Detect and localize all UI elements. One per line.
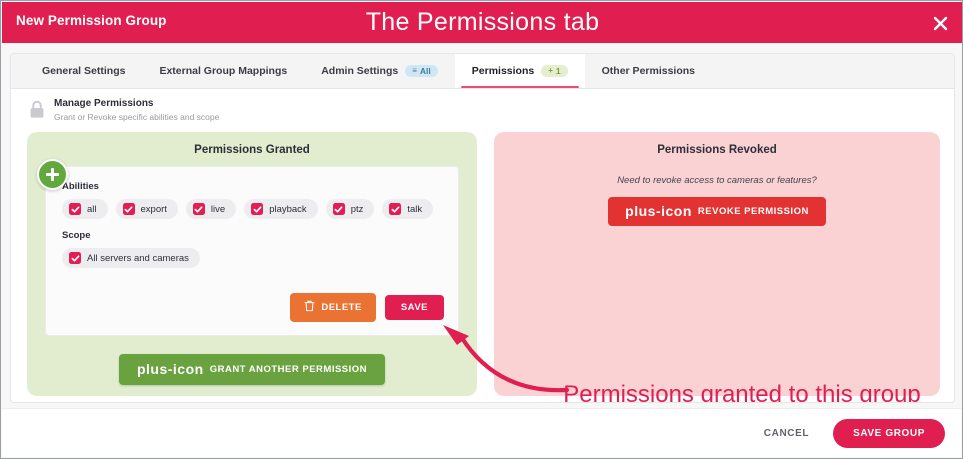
manage-subtitle: Grant or Revoke specific abilities and s… — [54, 111, 219, 123]
tab-bar: General Settings External Group Mappings… — [11, 54, 954, 89]
chip-label: talk — [407, 204, 422, 215]
revoke-button-wrap: plus-icon REVOKE PERMISSION — [494, 197, 940, 226]
trash-icon — [304, 300, 315, 315]
save-group-button[interactable]: SAVE GROUP — [833, 419, 945, 448]
button-label: REVOKE PERMISSION — [698, 206, 809, 217]
tab-label: Admin Settings — [321, 65, 398, 77]
tab-permissions[interactable]: Permissions + 1 — [455, 54, 585, 88]
permissions-granted-panel: Permissions Granted Abilities all export — [27, 132, 477, 396]
abilities-label: Abilities — [62, 181, 442, 192]
tab-other-permissions[interactable]: Other Permissions — [585, 54, 712, 88]
title-bar: New Permission Group The Permissions tab — [2, 2, 963, 43]
abilities-chip-list: all export live playback — [62, 199, 442, 219]
save-permission-button[interactable]: SAVE — [385, 295, 444, 320]
tab-label: Other Permissions — [602, 65, 695, 77]
lock-icon — [29, 100, 45, 119]
tab-general-settings[interactable]: General Settings — [25, 54, 142, 88]
ability-chip-playback[interactable]: playback — [244, 199, 318, 219]
button-label: DELETE — [321, 302, 361, 313]
checkbox-checked-icon[interactable] — [193, 203, 205, 215]
card-actions: DELETE SAVE — [290, 293, 444, 322]
scope-chip-list: All servers and cameras — [62, 248, 442, 268]
checkbox-checked-icon[interactable] — [333, 203, 345, 215]
tab-label: External Group Mappings — [159, 65, 287, 77]
delete-button[interactable]: DELETE — [290, 293, 375, 322]
button-label: GRANT ANOTHER PERMISSION — [210, 364, 367, 375]
plus-icon: + — [548, 67, 553, 75]
ability-chip-all[interactable]: all — [62, 199, 108, 219]
checkbox-checked-icon[interactable] — [69, 252, 81, 264]
ability-chip-ptz[interactable]: ptz — [326, 199, 375, 219]
revoke-question: Need to revoke access to cameras or feat… — [494, 175, 940, 186]
checkbox-checked-icon[interactable] — [69, 203, 81, 215]
tab-badge-count: + 1 — [541, 65, 567, 78]
cancel-button[interactable]: CANCEL — [758, 427, 815, 440]
grant-another-permission-button[interactable]: plus-icon GRANT ANOTHER PERMISSION — [119, 354, 385, 385]
plus-icon: plus-icon — [625, 204, 692, 218]
tab-label: Permissions — [472, 65, 534, 77]
app-window: New Permission Group The Permissions tab… — [0, 0, 963, 459]
checkbox-checked-icon[interactable] — [123, 203, 135, 215]
tab-external-group-mappings[interactable]: External Group Mappings — [142, 54, 304, 88]
chip-label: live — [211, 204, 225, 215]
tab-badge-all: ≡ All — [405, 65, 438, 78]
permission-entry-card: Abilities all export live — [45, 166, 459, 336]
chip-label: ptz — [351, 204, 364, 215]
manage-permissions-header: Manage Permissions Grant or Revoke speci… — [29, 98, 219, 123]
close-icon[interactable] — [927, 10, 953, 36]
ability-chip-live[interactable]: live — [186, 199, 236, 219]
chip-label: export — [141, 204, 167, 215]
ability-chip-export[interactable]: export — [116, 199, 178, 219]
checkbox-checked-icon[interactable] — [389, 203, 401, 215]
window-title: New Permission Group — [16, 13, 167, 28]
list-icon: ≡ — [412, 67, 417, 75]
checkbox-checked-icon[interactable] — [251, 203, 263, 215]
ability-chip-talk[interactable]: talk — [382, 199, 433, 219]
revoked-heading: Permissions Revoked — [494, 132, 940, 156]
button-label: SAVE — [401, 302, 428, 313]
grant-another-wrap: plus-icon GRANT ANOTHER PERMISSION — [27, 354, 477, 385]
tab-admin-settings[interactable]: Admin Settings ≡ All — [304, 54, 455, 88]
chip-label: all — [87, 204, 97, 215]
permissions-revoked-panel: Permissions Revoked Need to revoke acces… — [494, 132, 940, 396]
scope-chip-all-servers-and-cameras[interactable]: All servers and cameras — [62, 248, 200, 268]
scope-label: Scope — [62, 230, 442, 241]
dialog-footer: CANCEL SAVE GROUP — [2, 408, 961, 457]
manage-title: Manage Permissions — [54, 98, 219, 110]
granted-heading: Permissions Granted — [27, 132, 477, 156]
chip-label: All servers and cameras — [87, 253, 189, 264]
permission-dialog: General Settings External Group Mappings… — [10, 53, 955, 403]
badge-label: All — [420, 67, 431, 76]
chip-label: playback — [269, 204, 307, 215]
tab-label: General Settings — [42, 65, 125, 77]
permission-panels: Permissions Granted Abilities all export — [27, 132, 940, 396]
badge-label: 1 — [556, 67, 561, 76]
plus-circle-icon[interactable] — [37, 159, 68, 190]
revoke-permission-button[interactable]: plus-icon REVOKE PERMISSION — [608, 197, 826, 226]
plus-icon: plus-icon — [137, 362, 204, 376]
